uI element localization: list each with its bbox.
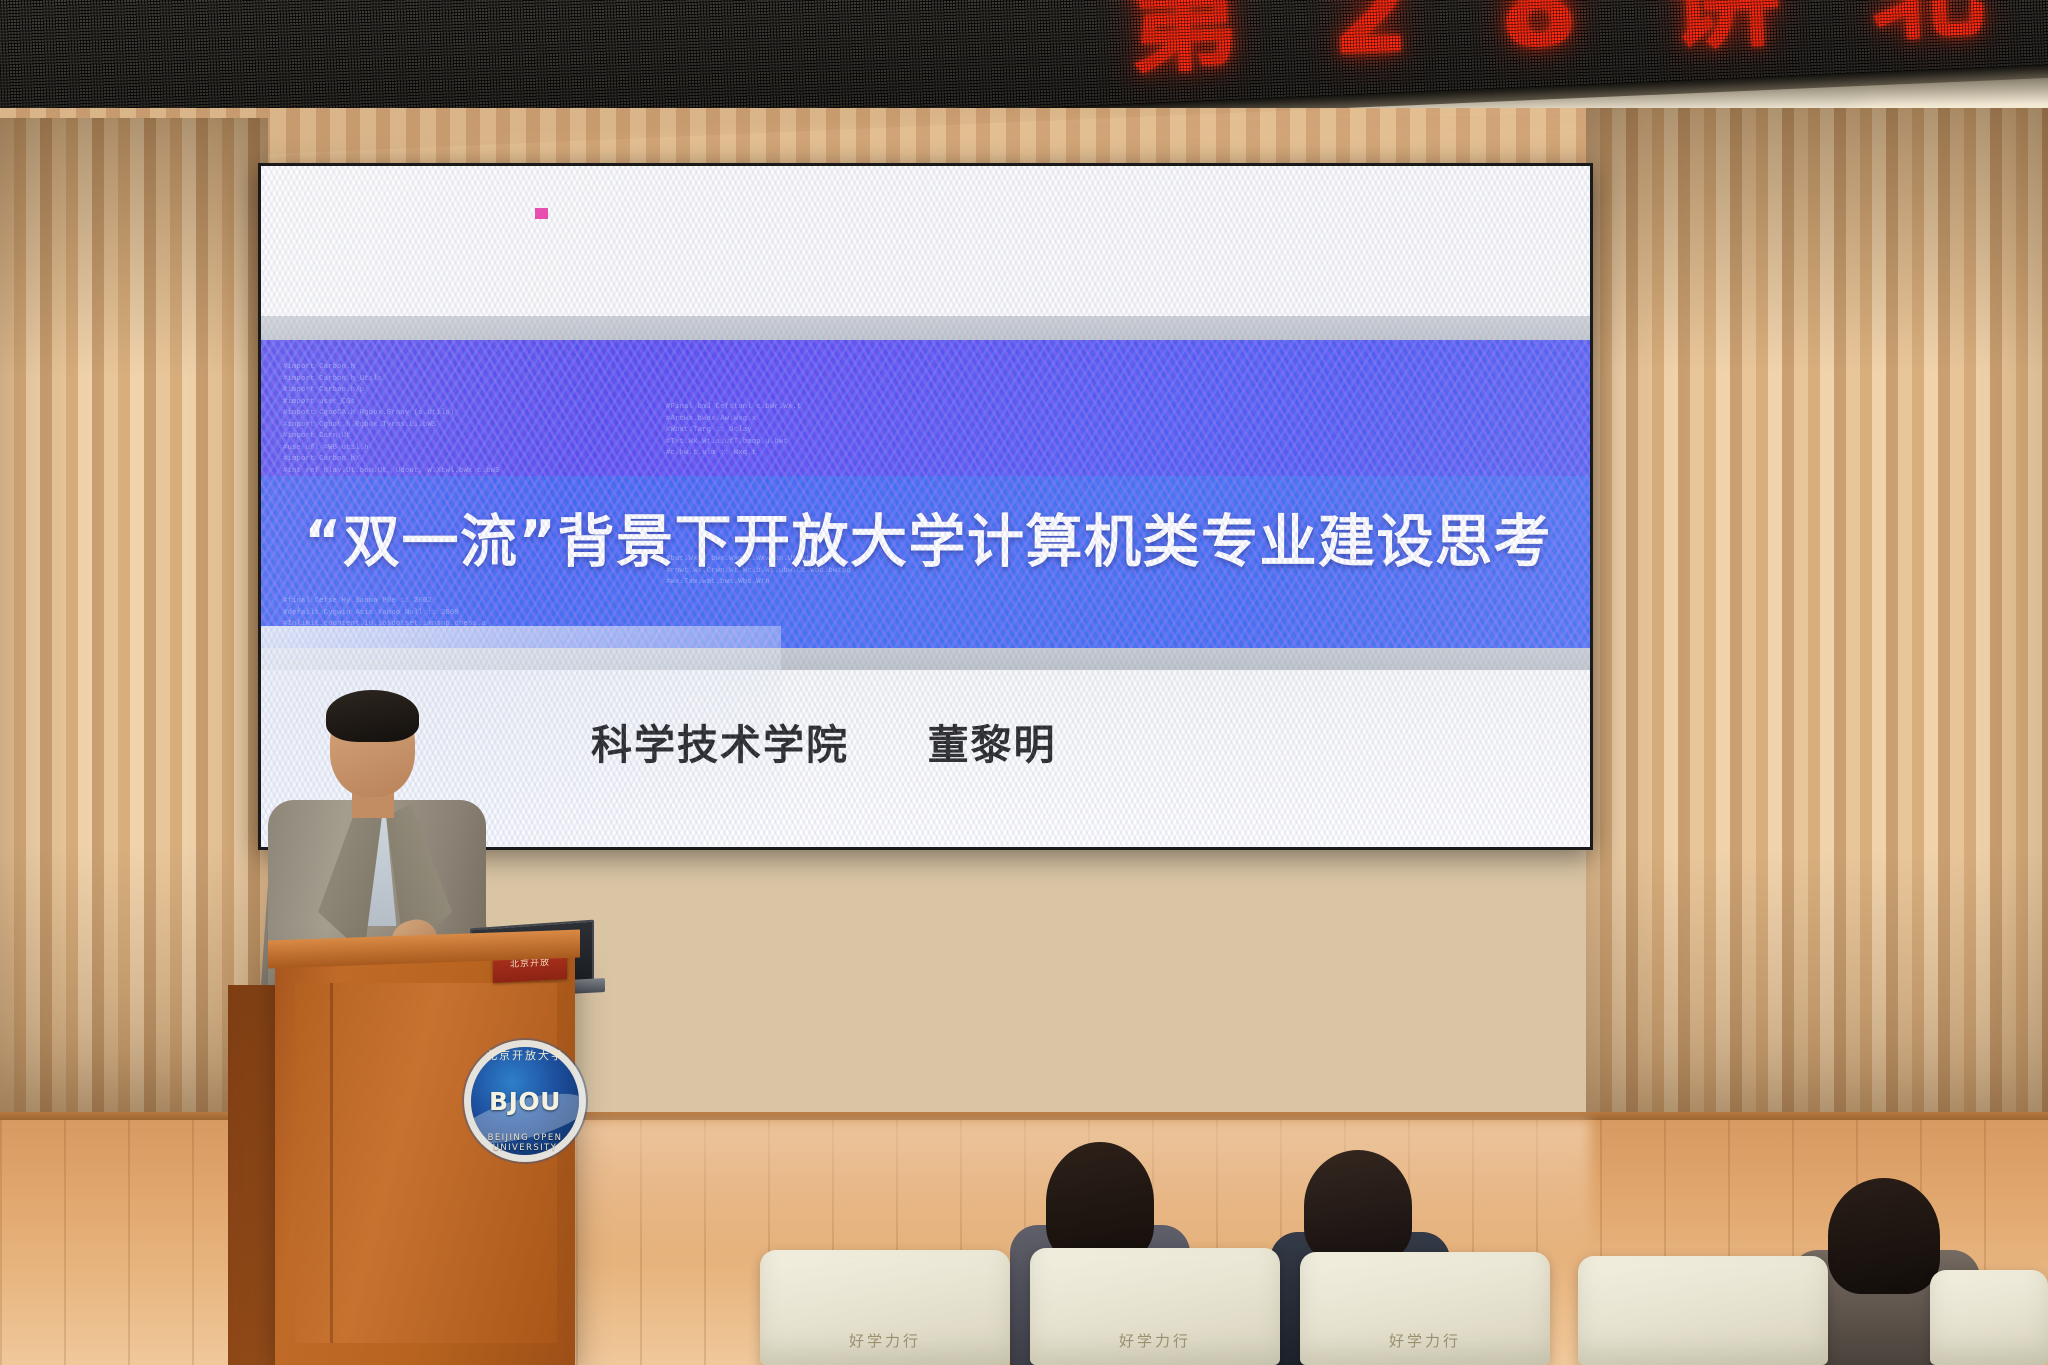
accent-dot [535,208,548,219]
attendee-1-hair [1046,1142,1154,1262]
speaker-hair [326,690,419,742]
chair: 好学力行 [1300,1252,1550,1365]
chair: 好学力行 [1030,1248,1280,1365]
chair [1578,1256,1828,1365]
slide-affiliation: 科学技术学院 [591,721,849,769]
chair-label: 好学力行 [1300,1330,1550,1351]
podium-seam [330,983,333,1343]
slide-title: “双一流”背景下开放大学计算机类专业建设思考 [273,496,1583,578]
lecture-hall-photo: 第 2 8 讲 北 开 大 #import Carbon.h #import C… [0,0,2048,1365]
presentation-screen: #import Carbon.h #import Carbon.h_Utils … [261,166,1590,847]
chair-label: 好学力行 [1030,1330,1280,1351]
chair-label: 好学力行 [760,1330,1010,1351]
slide-top-panel [261,166,1590,318]
chair: 好学力行 [760,1250,1010,1365]
curtain-right [1586,108,2048,1168]
slide-presenter-name: 董黎明 [928,721,1057,769]
logo-acronym-text: BJOU [489,1087,561,1116]
chair [1930,1270,2048,1365]
podium-front-panel [295,983,557,1343]
podium: 北京开放 BJOU 北京开放大学 BEIJING OPEN UNIVERSITY [275,955,575,1365]
curtain-shading [1586,108,2048,1168]
bjou-logo: BJOU [471,1047,579,1155]
attendee-2-hair [1304,1150,1412,1262]
slide-subtitle: 科学技术学院 董黎明 [591,711,1451,771]
slide-grey-band-upper [261,316,1590,342]
attendee-3-hair [1828,1178,1940,1294]
